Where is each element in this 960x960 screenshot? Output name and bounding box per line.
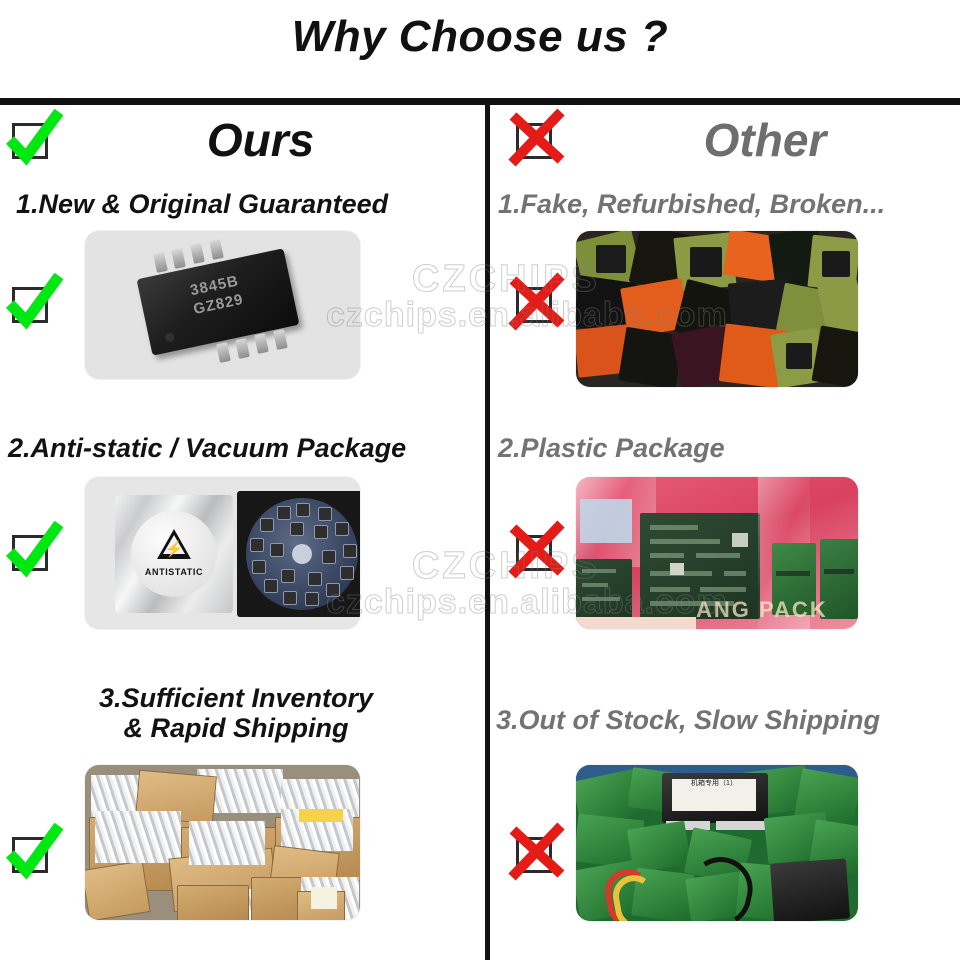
cross-mark-icon <box>512 529 558 575</box>
check-glyph <box>2 272 64 334</box>
row-other-1: 1.Fake, Refurbished, Broken... <box>490 189 960 447</box>
check-glyph <box>2 520 64 582</box>
check-glyph <box>2 822 64 884</box>
row-other-2: 2.Plastic Package <box>490 433 960 695</box>
cross-mark-icon <box>512 831 558 877</box>
reel-hub <box>292 544 312 564</box>
page-title: Why Choose us ? <box>0 12 960 62</box>
row-label-other-1: 1.Fake, Refurbished, Broken... <box>498 189 960 219</box>
row-label-ours-1: 1.New & Original Guaranteed <box>16 189 476 219</box>
chip-pin <box>235 338 250 359</box>
photo-watermark-ang-pack: ANG PACK <box>696 597 828 623</box>
chip-pin <box>254 333 269 354</box>
photo-scrap-chips <box>576 231 858 387</box>
check-mark-icon <box>8 831 54 877</box>
chip-pin <box>171 248 186 269</box>
row-other-3: 3.Out of Stock, Slow Shipping 机箱专用（1） <box>490 683 960 960</box>
chip-pin <box>216 342 231 363</box>
chip-pin <box>273 329 288 350</box>
photo-soic-chip: 3845B GZ829 <box>85 231 360 379</box>
row-label-ours-3: 3.Sufficient Inventory & Rapid Shipping <box>16 683 456 743</box>
column-header-label-ours: Ours <box>0 113 503 167</box>
photo-plastic-package: ANG PACK <box>576 477 858 629</box>
cross-mark-icon <box>512 281 558 327</box>
column-ours: Ours 1.New & Original Guaranteed 3845B G… <box>0 103 485 960</box>
chip-pin <box>209 239 224 260</box>
column-header-label-other: Other <box>490 113 960 167</box>
photo-green-scrap: 机箱专用（1） <box>576 765 858 921</box>
photo-antistatic-package: ⚡ ANTISTATIC <box>85 477 360 629</box>
chip-marking-text: 3845B GZ829 <box>139 262 294 330</box>
row-label-other-2: 2.Plastic Package <box>498 433 960 463</box>
chip-pin1-dot <box>164 332 175 343</box>
row-ours-3: 3.Sufficient Inventory & Rapid Shipping <box>0 683 485 960</box>
reel-tray <box>237 491 360 617</box>
check-mark-icon <box>8 529 54 575</box>
column-other: Other 1.Fake, Refurbished, Broken... <box>490 103 960 960</box>
row-label-ours-2: 2.Anti-static / Vacuum Package <box>8 433 478 463</box>
module-label-text: 机箱专用（1） <box>672 779 756 811</box>
column-header-ours: Ours <box>0 111 485 179</box>
antistatic-bag: ⚡ ANTISTATIC <box>115 495 233 613</box>
cross-glyph <box>506 520 568 582</box>
row-label-other-3: 3.Out of Stock, Slow Shipping <box>496 705 960 735</box>
photo-inventory-boxes <box>85 765 360 920</box>
lightning-bolt-icon: ⚡ <box>165 542 184 557</box>
column-header-other: Other <box>490 111 960 179</box>
cross-glyph <box>506 822 568 884</box>
component-reel <box>246 498 358 610</box>
chip-pin <box>153 252 168 273</box>
scrap-module: 机箱专用（1） <box>662 773 768 823</box>
cross-glyph <box>506 272 568 334</box>
chip-pin <box>190 243 205 264</box>
check-mark-icon <box>8 281 54 327</box>
bag-reel-bulge: ⚡ ANTISTATIC <box>131 511 217 597</box>
antistatic-label: ANTISTATIC <box>131 567 217 577</box>
row-ours-1: 1.New & Original Guaranteed 3845B GZ829 <box>0 189 485 447</box>
row-ours-2: 2.Anti-static / Vacuum Package ⚡ ANTISTA… <box>0 433 485 695</box>
